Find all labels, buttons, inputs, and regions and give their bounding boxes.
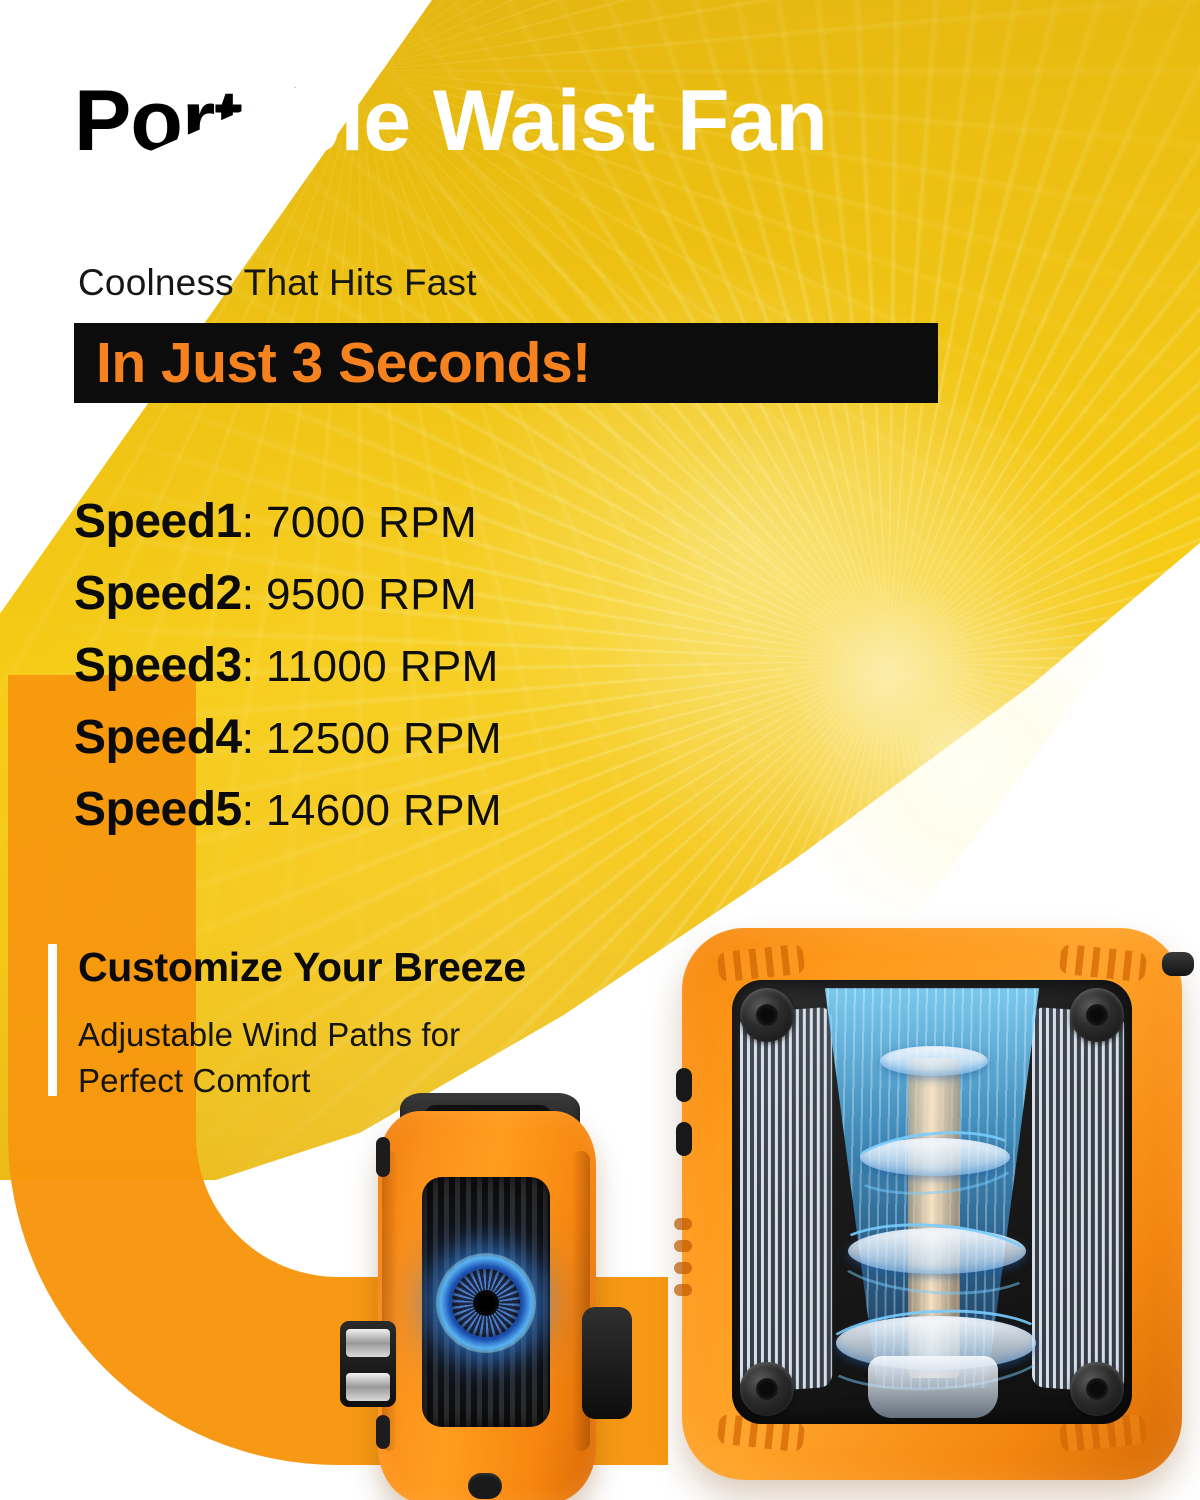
spec-value: 14600 RPM [266,786,502,836]
spec-row: Speed5 : 14600 RPM [74,782,502,854]
fan-side-button-upper [676,1068,692,1102]
spec-value: 11000 RPM [266,642,499,692]
spec-separator: : [242,570,254,620]
fan-belt-clip [582,1307,632,1419]
spec-label: Speed1 [74,494,242,549]
fan-rear-knob [1162,952,1194,976]
fan-motor-base [868,1356,998,1418]
spec-label: Speed4 [74,710,242,765]
screw-head-icon [756,1004,778,1026]
product-infographic: Portable Waist Fan Portable Waist Fan Co… [0,0,1200,1500]
feature-title: Customize Your Breeze [78,944,526,991]
spec-row: Speed2 : 9500 RPM [74,566,502,638]
spec-separator: : [242,642,254,692]
highlight-banner-text: In Just 3 Seconds! [74,335,591,392]
fan-screw-top-left [740,988,794,1042]
fan-screw-top-right [1070,988,1124,1042]
highlight-banner: In Just 3 Seconds! [74,323,938,403]
fan-side-vent-3 [674,1262,692,1274]
spec-row: Speed1 : 7000 RPM [74,494,502,566]
spec-label: Speed2 [74,566,242,621]
impeller-disc-1 [880,1046,988,1076]
airflow-swirl-2 [830,1217,1040,1301]
product-image-waist-fan-side [340,1085,640,1500]
fan-strap-metal-clasp-upper [346,1329,390,1357]
fan-side-button-lower [676,1122,692,1156]
fan-hub [473,1290,499,1316]
fan-side-nub-top [376,1137,390,1177]
spec-value: 7000 RPM [266,498,477,548]
fan-side-vent-1 [674,1218,692,1230]
spec-separator: : [242,498,254,548]
spec-separator: : [242,714,254,764]
fan-power-button [468,1473,502,1499]
heatsink-fins-left [740,1007,832,1393]
screw-head-icon [756,1378,778,1400]
fan-side-nub-bottom [376,1415,390,1449]
spec-label: Speed5 [74,782,242,837]
accent-bar-feature [48,944,57,1096]
spec-row: Speed3 : 11000 RPM [74,638,502,710]
spec-value: 9500 RPM [266,570,477,620]
screw-head-icon [1086,1378,1108,1400]
feature-subtitle-line-1: Adjustable Wind Paths for [78,1012,460,1058]
product-image-waist-fan-cutaway [668,918,1200,1500]
fan-side-vent-2 [674,1240,692,1252]
spec-separator: : [242,786,254,836]
speed-spec-list: Speed1 : 7000 RPM Speed2 : 9500 RPM Spee… [74,494,502,854]
fan-cutaway-interior [732,980,1132,1424]
spec-row: Speed4 : 12500 RPM [74,710,502,782]
intro-kicker: Coolness That Hits Fast [78,262,477,304]
screw-head-icon [1086,1004,1108,1026]
fan-side-vent-4 [674,1284,692,1296]
spec-label: Speed3 [74,638,242,693]
accent-bar-intro [48,266,57,402]
fan-strap-metal-clasp-lower [346,1373,390,1401]
fan-screw-bottom-right [1070,1362,1124,1416]
spec-value: 12500 RPM [266,714,502,764]
fan-screw-bottom-left [740,1362,794,1416]
